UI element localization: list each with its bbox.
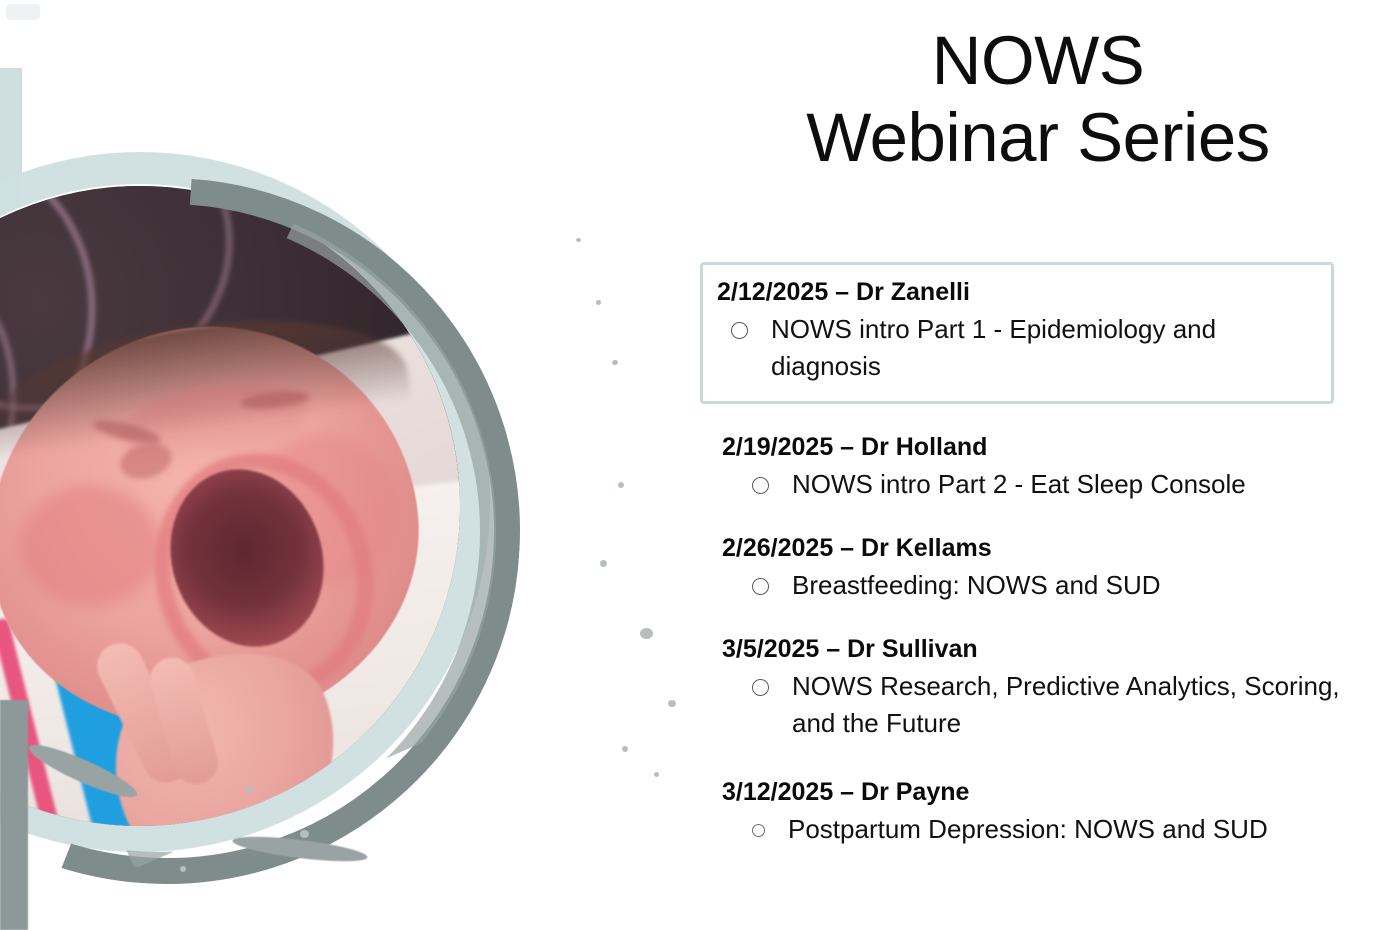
- entry-topic: Postpartum Depression: NOWS and SUD: [788, 811, 1268, 848]
- corner-smudge: [6, 4, 40, 20]
- speckle: [300, 830, 309, 838]
- speckle: [668, 700, 676, 707]
- title-line-2: Webinar Series: [698, 99, 1378, 176]
- bullet-circle-icon: [752, 477, 769, 494]
- entry-topic: NOWS intro Part 1 - Epidemiology and dia…: [771, 311, 1315, 385]
- speckle: [622, 746, 628, 752]
- content-panel: NOWS Webinar Series 2/12/2025 – Dr Zanel…: [698, 0, 1378, 930]
- schedule-entry-highlighted[interactable]: 2/12/2025 – Dr Zanelli NOWS intro Part 1…: [700, 262, 1334, 404]
- entry-date: 2/19/2025 – Dr Holland: [722, 432, 1378, 462]
- bullet-circle-icon: [752, 824, 765, 837]
- speckle: [246, 786, 253, 792]
- entry-topic-row: NOWS Research, Predictive Analytics, Sco…: [722, 668, 1378, 742]
- schedule-entry[interactable]: 3/5/2025 – Dr Sullivan NOWS Research, Pr…: [722, 634, 1378, 742]
- photo-composition: [0, 0, 700, 930]
- entry-topic: NOWS Research, Predictive Analytics, Sco…: [792, 668, 1352, 742]
- entry-date: 2/26/2025 – Dr Kellams: [722, 533, 1378, 563]
- bullet-circle-icon: [731, 322, 748, 339]
- speckle: [618, 482, 624, 488]
- speckle: [612, 360, 618, 365]
- speckle: [596, 300, 601, 305]
- webinar-schedule-list: 2/12/2025 – Dr Zanelli NOWS intro Part 1…: [698, 262, 1378, 848]
- bullet-circle-icon: [752, 578, 769, 595]
- slide-canvas: NOWS Webinar Series 2/12/2025 – Dr Zanel…: [0, 0, 1378, 930]
- entry-date: 3/12/2025 – Dr Payne: [722, 777, 1378, 807]
- entry-topic-row: Breastfeeding: NOWS and SUD: [722, 567, 1378, 604]
- entry-date: 2/12/2025 – Dr Zanelli: [717, 277, 1315, 307]
- gray-edge-bar: [0, 700, 28, 930]
- entry-topic-row: NOWS intro Part 1 - Epidemiology and dia…: [717, 311, 1315, 385]
- entry-topic: NOWS intro Part 2 - Eat Sleep Console: [792, 466, 1246, 503]
- speckle: [576, 238, 581, 242]
- page-title: NOWS Webinar Series: [698, 0, 1378, 177]
- bullet-circle-icon: [752, 679, 769, 696]
- entry-topic-row: NOWS intro Part 2 - Eat Sleep Console: [722, 466, 1378, 503]
- entry-topic-row: Postpartum Depression: NOWS and SUD: [722, 811, 1378, 848]
- entry-topic: Breastfeeding: NOWS and SUD: [792, 567, 1161, 604]
- schedule-entry[interactable]: 2/26/2025 – Dr Kellams Breastfeeding: NO…: [722, 533, 1378, 604]
- speckle: [600, 560, 607, 567]
- speckle: [640, 628, 653, 639]
- title-line-1: NOWS: [932, 22, 1145, 99]
- speckle: [654, 772, 659, 777]
- speckle: [180, 866, 186, 872]
- entry-date: 3/5/2025 – Dr Sullivan: [722, 634, 1378, 664]
- schedule-entry[interactable]: 3/12/2025 – Dr Payne Postpartum Depressi…: [722, 777, 1378, 848]
- schedule-entry[interactable]: 2/19/2025 – Dr Holland NOWS intro Part 2…: [722, 432, 1378, 503]
